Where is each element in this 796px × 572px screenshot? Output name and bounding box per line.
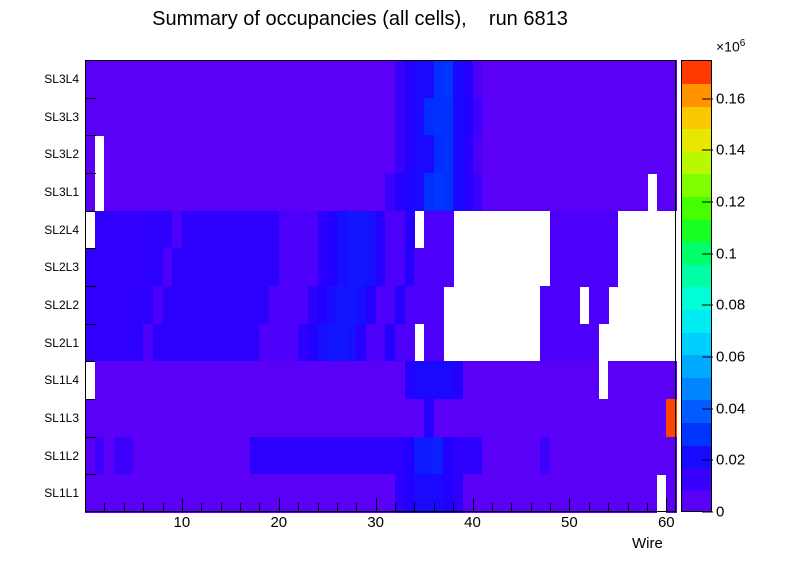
x-tick-mark: [182, 498, 183, 512]
heatmap-cell: [569, 286, 579, 324]
colorbar-tick-mark: [702, 98, 713, 99]
colorbar-band: [682, 400, 711, 423]
colorbar-band: [682, 151, 711, 174]
x-tick-label-30: 30: [367, 514, 384, 531]
x-tick-mark: [356, 503, 357, 512]
x-tick-mark: [569, 498, 570, 512]
y-tick-label-sl2l1: SL2L1: [44, 336, 79, 350]
x-axis-title: Wire: [632, 535, 663, 552]
x-tick-mark: [666, 498, 667, 512]
y-tick-label-sl1l2: SL1L2: [44, 449, 79, 463]
y-tick-mark: [85, 98, 96, 99]
colorbar-band: [682, 377, 711, 400]
x-tick-mark: [511, 503, 512, 512]
x-tick-mark: [337, 503, 338, 512]
heatmap-cell: [434, 286, 444, 324]
colorbar-band: [682, 287, 711, 310]
heatmap-cell: [434, 324, 444, 362]
colorbar-band: [682, 310, 711, 333]
colorbar-tick-label: 0.04: [716, 400, 745, 417]
x-tick-mark: [201, 503, 202, 512]
colorbar-band: [682, 197, 711, 220]
y-tick-label-sl3l4: SL3L4: [44, 72, 79, 86]
heatmap-cell: [589, 324, 599, 362]
heatmap-cell: [608, 248, 618, 286]
y-tick-mark: [85, 437, 96, 438]
x-tick-mark: [104, 503, 105, 512]
colorbar-band: [682, 355, 711, 378]
x-tick-mark: [414, 503, 415, 512]
colorbar-tick-label: 0.16: [716, 90, 745, 107]
colorbar-band: [682, 219, 711, 242]
y-tick-mark: [85, 474, 96, 475]
heatmap-cell: [589, 361, 599, 399]
x-tick-mark: [608, 503, 609, 512]
x-tick-mark: [589, 503, 590, 512]
y-tick-mark: [85, 211, 96, 212]
colorbar-tick-label: 0.08: [716, 297, 745, 314]
colorbar-tick-mark: [702, 408, 713, 409]
colorbar-tick-mark: [702, 253, 713, 254]
colorbar-tick-mark: [702, 202, 713, 203]
heatmap-cell: [443, 211, 453, 249]
x-tick-mark: [376, 498, 377, 512]
colorbar-band: [682, 106, 711, 129]
colorbar-band: [682, 61, 711, 84]
y-tick-label-sl1l3: SL1L3: [44, 411, 79, 425]
heatmap-cell: [666, 361, 676, 399]
x-tick-mark: [628, 503, 629, 512]
y-tick-label-sl1l1: SL1L1: [44, 486, 79, 500]
colorbar-tick-mark: [702, 150, 713, 151]
y-tick-label-sl2l4: SL2L4: [44, 223, 79, 237]
colorbar-band: [682, 332, 711, 355]
x-tick-label-50: 50: [561, 514, 578, 531]
x-tick-label-20: 20: [270, 514, 287, 531]
y-tick-label-sl3l2: SL3L2: [44, 147, 79, 161]
heatmap-cell: [85, 135, 95, 173]
x-tick-mark: [298, 503, 299, 512]
y-tick-mark: [85, 399, 96, 400]
colorbar-tick-label: 0.02: [716, 452, 745, 469]
x-tick-mark: [647, 503, 648, 512]
heatmap-plot-area[interactable]: [85, 60, 676, 512]
x-tick-mark: [124, 503, 125, 512]
y-axis-labels: SL3L4SL3L3SL3L2SL3L1SL2L4SL2L3SL2L2SL2L1…: [0, 0, 79, 572]
y-tick-label-sl3l1: SL3L1: [44, 185, 79, 199]
colorbar-band: [682, 468, 711, 491]
y-tick-mark: [85, 324, 96, 325]
heatmap-cell: [405, 324, 415, 362]
colorbar-tick-mark: [702, 512, 713, 513]
x-tick-mark: [550, 503, 551, 512]
heatmap-cell: [666, 98, 676, 136]
heatmap-cell: [666, 437, 676, 475]
x-tick-mark: [434, 503, 435, 512]
heatmap-cell: [647, 474, 657, 512]
x-tick-mark: [473, 498, 474, 512]
y-tick-label-sl2l3: SL2L3: [44, 260, 79, 274]
y-tick-label-sl2l2: SL2L2: [44, 298, 79, 312]
colorbar-band: [682, 445, 711, 468]
heatmap-cell: [608, 211, 618, 249]
x-tick-mark: [492, 503, 493, 512]
colorbar-tick-label: 0: [716, 504, 724, 521]
y-tick-mark: [85, 173, 96, 174]
colorbar-band: [682, 174, 711, 197]
colorbar-band: [682, 84, 711, 107]
x-tick-mark: [259, 503, 260, 512]
x-tick-mark: [143, 503, 144, 512]
colorbar-tick-label: 0.14: [716, 142, 745, 159]
root-canvas: Summary of occupancies (all cells), run …: [0, 0, 796, 572]
colorbar-band: [682, 490, 711, 512]
y-tick-mark: [85, 135, 96, 136]
x-tick-mark: [395, 503, 396, 512]
x-tick-label-40: 40: [464, 514, 481, 531]
heatmap-cell: [637, 173, 647, 211]
y-tick-mark: [85, 248, 96, 249]
y-tick-mark: [85, 60, 96, 61]
heatmap-cell: [598, 286, 608, 324]
heatmap-cell: [666, 399, 676, 437]
y-tick-mark: [85, 361, 96, 362]
heatmap-cell: [405, 211, 415, 249]
colorbar-tick-label: 0.06: [716, 349, 745, 366]
heatmap-cell: [666, 60, 676, 98]
x-tick-mark: [163, 503, 164, 512]
x-tick-mark: [240, 503, 241, 512]
colorbar[interactable]: [681, 60, 712, 512]
colorbar-band: [682, 264, 711, 287]
x-tick-mark: [453, 503, 454, 512]
x-tick-mark: [531, 503, 532, 512]
x-tick-label-10: 10: [174, 514, 191, 531]
y-tick-mark: [85, 286, 96, 287]
heatmap-cell: [443, 248, 453, 286]
colorbar-tick-label: 0.12: [716, 194, 745, 211]
y-tick-label-sl1l4: SL1L4: [44, 373, 79, 387]
x-tick-mark: [221, 503, 222, 512]
heatmap-cell: [85, 173, 95, 211]
colorbar-tick-mark: [702, 460, 713, 461]
x-tick-mark: [318, 503, 319, 512]
heatmap-cell: [666, 135, 676, 173]
page-title: Summary of occupancies (all cells), run …: [0, 8, 720, 31]
colorbar-tick-label: 0.1: [716, 245, 737, 262]
colorbar-tick-mark: [702, 357, 713, 358]
heatmap-cells: [85, 60, 676, 512]
colorbar-tick-mark: [702, 305, 713, 306]
colorbar-band: [682, 423, 711, 446]
y-tick-label-sl3l3: SL3L3: [44, 110, 79, 124]
colorbar-exponent: ×106: [716, 38, 745, 55]
x-tick-mark: [279, 498, 280, 512]
colorbar-band: [682, 129, 711, 152]
x-tick-label-60: 60: [658, 514, 675, 531]
heatmap-cell: [666, 173, 676, 211]
heatmap-cell: [666, 474, 676, 512]
